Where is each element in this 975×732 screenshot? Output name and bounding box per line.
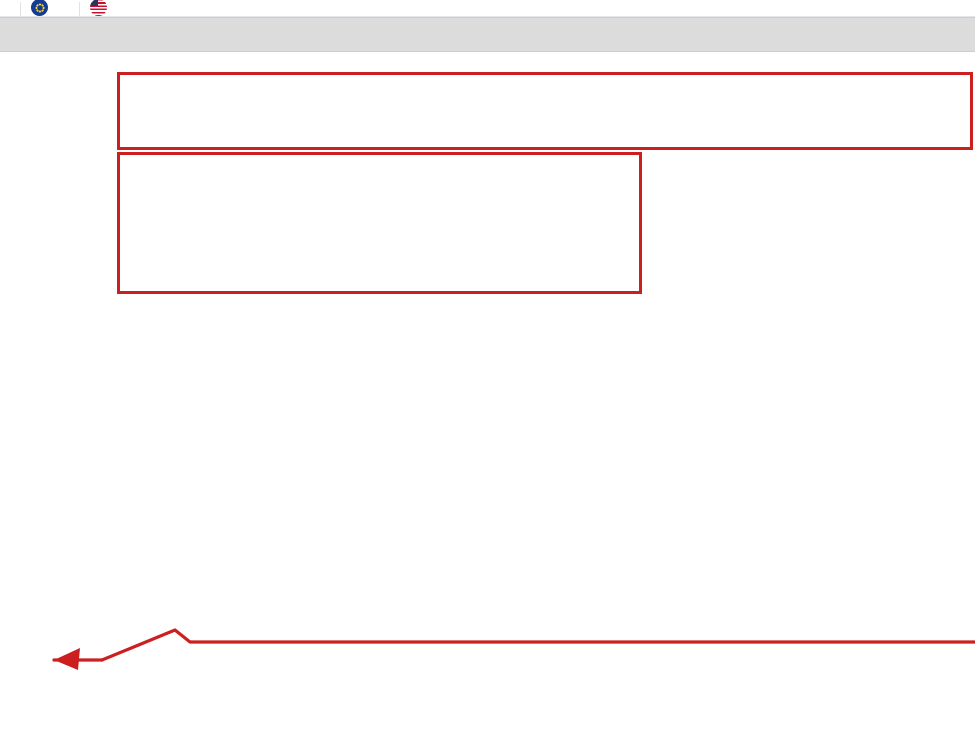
annotation-box-new-zealand	[117, 72, 973, 150]
european-union-flag-icon	[31, 0, 48, 16]
ticker-left-fragment	[0, 0, 20, 16]
united-states-flag-icon	[90, 0, 107, 16]
ticker-item-usdjpy[interactable]	[80, 0, 138, 16]
date-separator-row	[0, 17, 975, 52]
market-ticker-bar	[0, 0, 975, 17]
ticker-item-eurusd[interactable]	[21, 0, 79, 16]
annotation-arrow-approximate-time	[40, 612, 975, 672]
annotation-box-australia	[117, 152, 642, 294]
economic-calendar-table	[0, 17, 975, 52]
